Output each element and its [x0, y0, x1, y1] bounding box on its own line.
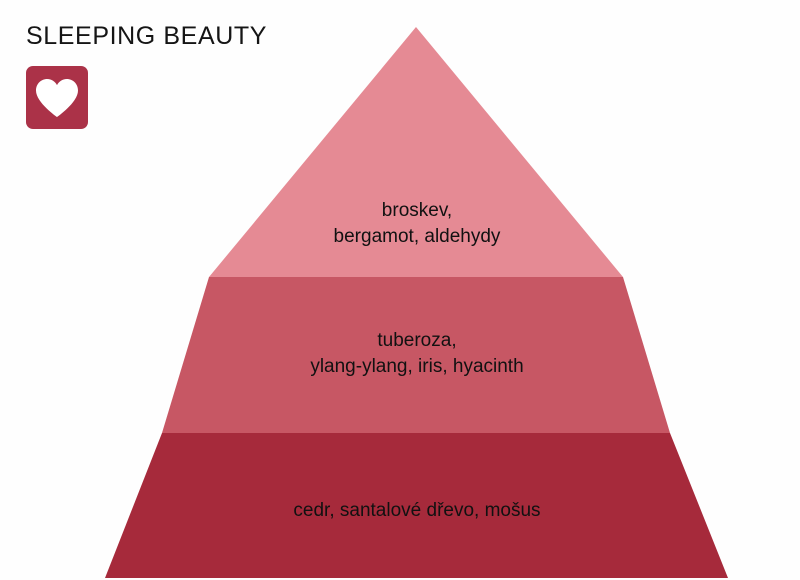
heart-badge: [26, 66, 88, 129]
brand-block: SLEEPING BEAUTY: [26, 24, 326, 49]
pyramid-tier-top: [209, 27, 623, 277]
pyramid-tier-base: [105, 433, 728, 578]
pyramid-tier-middle: [162, 277, 670, 433]
fragrance-pyramid-canvas: broskev, bergamot, aldehydy tuberoza, yl…: [0, 0, 800, 580]
pyramid-chart: [0, 0, 800, 580]
heart-icon: [35, 78, 79, 118]
page-title: SLEEPING BEAUTY: [26, 24, 326, 49]
